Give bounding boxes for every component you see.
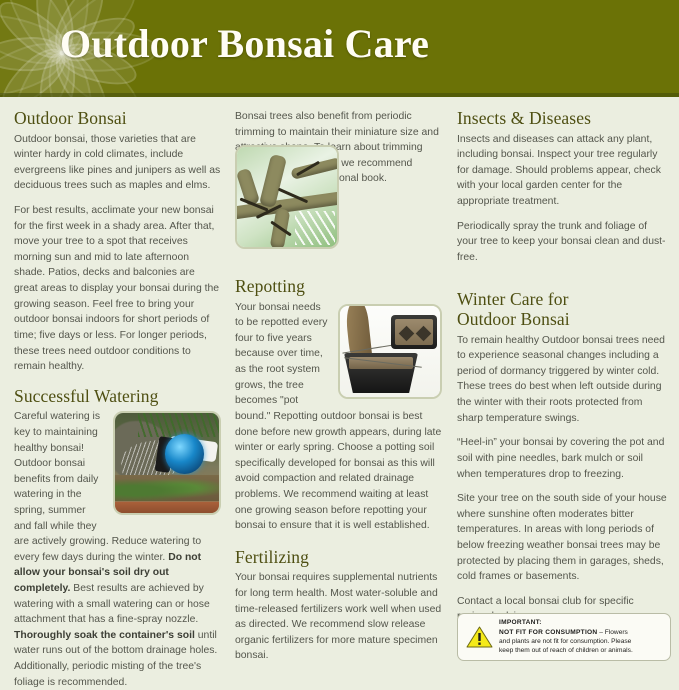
heading-repotting: Repotting: [235, 277, 442, 297]
paragraph-winter-2: “Heel-in” your bonsai by covering the po…: [457, 435, 670, 482]
warning-line-flowers: – Flowers: [597, 629, 627, 636]
warning-line-important: IMPORTANT:: [499, 618, 633, 627]
wired-branch-photo: [235, 145, 339, 249]
page-title: Outdoor Bonsai Care: [60, 20, 429, 67]
heading-successful-watering: Successful Watering: [14, 387, 221, 407]
paragraph-outdoor-bonsai-1: Outdoor bonsai, those varieties that are…: [14, 132, 221, 194]
heading-winter-care-line2: Outdoor Bonsai: [457, 309, 570, 329]
warning-line-4: keep them out of reach of children or an…: [499, 646, 633, 655]
page-header: Outdoor Bonsai Care: [0, 0, 679, 97]
repotting-photo: [338, 304, 442, 399]
paragraph-insects-2: Periodically spray the trunk and foliage…: [457, 219, 670, 266]
heading-winter-care: Winter Care for Outdoor Bonsai: [457, 290, 670, 329]
paragraph-winter-1: To remain healthy Outdoor bonsai trees n…: [457, 333, 670, 427]
paragraph-winter-3: Site your tree on the south side of your…: [457, 491, 670, 585]
heading-insects-diseases: Insects & Diseases: [457, 109, 670, 129]
heading-winter-care-line1: Winter Care for: [457, 289, 569, 309]
warning-line-3: and plants are not fit for consumption. …: [499, 637, 633, 646]
right-column: Insects & Diseases Insects and diseases …: [457, 109, 670, 625]
watering-photo: [113, 411, 221, 515]
heading-fertilizing: Fertilizing: [235, 548, 442, 568]
heading-outdoor-bonsai: Outdoor Bonsai: [14, 109, 221, 129]
paragraph-outdoor-bonsai-2: For best results, acclimate your new bon…: [14, 203, 221, 375]
watering-text-bold-2: Thoroughly soak the container's soil: [14, 630, 195, 641]
paragraph-insects-1: Insects and diseases can attack any plan…: [457, 132, 670, 210]
paragraph-fertilizing: Your bonsai requires supplemental nutrie…: [235, 570, 442, 664]
warning-text: IMPORTANT: NOT FIT FOR CONSUMPTION – Flo…: [499, 618, 633, 655]
warning-line-not-fit: NOT FIT FOR CONSUMPTION: [499, 629, 597, 636]
content-area: Outdoor Bonsai Outdoor bonsai, those var…: [0, 97, 679, 679]
middle-column: Bonsai trees also benefit from periodic …: [235, 109, 442, 664]
warning-box: IMPORTANT: NOT FIT FOR CONSUMPTION – Flo…: [457, 613, 671, 661]
left-column: Outdoor Bonsai Outdoor bonsai, those var…: [14, 109, 221, 690]
warning-triangle-icon: [466, 625, 493, 649]
